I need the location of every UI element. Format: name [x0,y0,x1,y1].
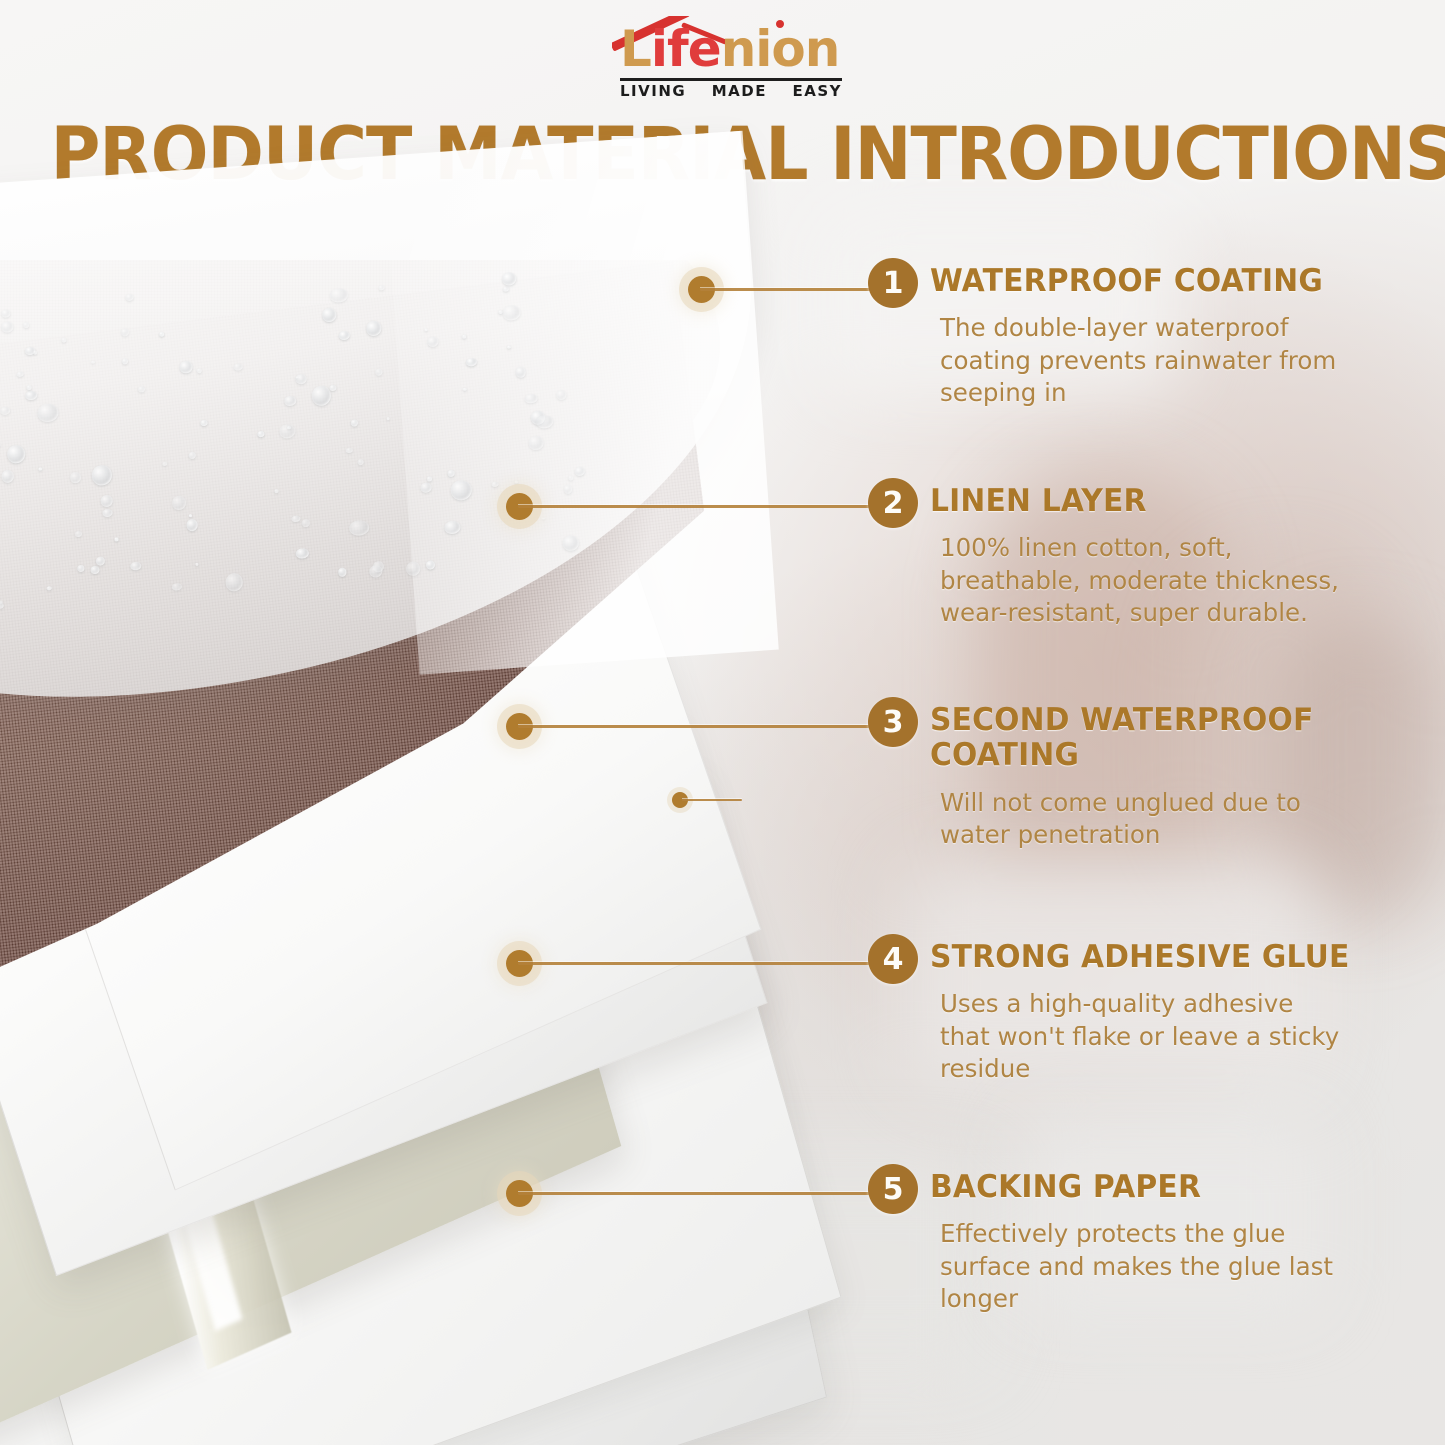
water-droplet [311,385,331,406]
water-droplet [70,472,82,484]
water-droplet [375,368,383,376]
callout-body-5: Effectively protects the glue surface an… [940,1218,1333,1316]
callout-title-5: BACKING PAPER [930,1170,1317,1205]
callout-body-2: 100% linen cotton, soft, breathable, mod… [940,532,1339,630]
water-droplet [369,565,383,578]
water-droplet [189,452,196,459]
callout-body-4: Uses a high-quality adhesive that won't … [940,988,1367,1086]
tagline-word-2: MADE [712,82,767,100]
water-droplet [329,288,348,303]
callout-body-1: The double-layer waterproof coating prev… [940,312,1339,410]
water-droplet [91,361,95,364]
brand-tagline: LIVING MADE EASY [620,82,842,100]
water-droplet [162,462,167,466]
callout-body-3: Will not come unglued due to water penet… [940,787,1330,852]
water-droplet [121,358,128,364]
water-droplet [75,531,83,537]
leader-line-5 [518,1192,880,1195]
callout-2[interactable]: 2 LINEN LAYER 100% linen cotton, soft, b… [930,484,1339,630]
water-droplet [225,573,244,592]
callout-title-4: STRONG ADHESIVE GLUE [930,940,1350,975]
water-droplet [172,583,182,591]
water-droplet [507,345,511,348]
brand-name-part2: ife [651,20,721,78]
brand-logo: Lifenion LIVING MADE EASY [598,6,858,102]
leader-line-3b [682,799,742,801]
water-droplet [186,519,198,532]
water-droplet [1,309,10,317]
water-droplet [102,508,112,517]
coating-edge-gloss [383,131,778,675]
callout-3[interactable]: 3 SECOND WATERPROOF COATING Will not com… [930,703,1330,852]
callout-1[interactable]: 1 WATERPROOF COATING The double-layer wa… [930,264,1339,410]
water-droplet [92,464,113,486]
water-droplet [180,360,193,373]
water-droplet [2,470,15,484]
callout-title-1: WATERPROOF COATING [930,264,1323,299]
water-droplet [346,448,353,454]
callout-badge-2: 2 [868,478,918,528]
water-droplet [339,330,350,340]
water-droplet [61,337,67,342]
leader-line-2 [518,505,880,508]
water-droplet [292,515,301,522]
water-droplet [201,420,208,427]
water-droplet [37,403,59,423]
callout-badge-5: 5 [868,1164,918,1214]
callout-badge-4: 4 [868,934,918,984]
water-droplet [233,363,242,370]
callout-4[interactable]: 4 STRONG ADHESIVE GLUE Uses a high-quali… [930,940,1367,1086]
water-droplet [39,468,43,471]
infographic-canvas: Lifenion LIVING MADE EASY PRODUCT MATERI… [0,0,1445,1445]
water-droplet [23,322,30,329]
water-droplet [338,568,347,577]
water-droplet [350,420,358,428]
water-droplet [1,321,14,332]
callout-title-2: LINEN LAYER [930,484,1323,519]
water-droplet [159,332,164,337]
water-droplet [301,519,310,527]
brand-divider [620,78,842,81]
water-droplet [16,371,23,377]
water-droplet [189,514,193,517]
leader-line-3 [518,725,880,728]
water-droplet [330,385,337,391]
water-droplet [274,489,278,493]
tagline-word-1: LIVING [620,82,686,100]
brand-name-part1: L [620,20,651,78]
water-droplet [0,602,4,609]
leader-line-1 [700,288,880,291]
water-droplet [258,430,265,436]
water-droplet [115,537,119,541]
water-droplet [357,459,363,465]
water-droplet [322,307,337,323]
water-droplet [197,368,203,374]
brand-wordmark: Lifenion [620,24,839,74]
material-layers-illustration [0,200,940,1445]
leader-line-4 [518,962,880,965]
water-droplet [295,548,309,560]
callout-badge-3: 3 [868,697,918,747]
water-droplet [498,310,502,314]
water-droplet [0,442,1,448]
water-droplet [120,328,129,337]
water-droplet [171,496,186,511]
water-droplet [278,424,295,439]
water-droplet [130,562,141,571]
callout-title-3: SECOND WATERPROOF COATING [930,703,1314,774]
water-droplet [46,586,51,590]
water-droplet [7,444,26,463]
tagline-word-3: EASY [792,82,842,100]
brand-name-part3: nion [721,20,840,78]
water-droplet [366,321,382,337]
layer-waterproof-coating [0,131,777,729]
water-droplet [195,563,198,566]
water-droplet [349,520,370,536]
water-droplet [25,390,37,400]
water-droplet [27,385,33,390]
water-droplet [33,350,38,355]
water-droplet [125,294,134,302]
water-droplet [284,396,296,406]
water-droplet [295,373,307,385]
water-droplet [138,386,145,393]
callout-badge-1: 1 [868,258,918,308]
callout-5[interactable]: 5 BACKING PAPER Effectively protects the… [930,1170,1333,1316]
water-droplet [379,285,385,291]
water-droplet [515,367,525,378]
water-droplet [101,494,114,507]
water-droplet [0,407,11,416]
water-droplet [90,565,100,574]
water-droplet [77,565,85,572]
water-droplet [386,417,389,420]
water-droplet [96,556,106,565]
letter-i-dot [776,20,784,28]
